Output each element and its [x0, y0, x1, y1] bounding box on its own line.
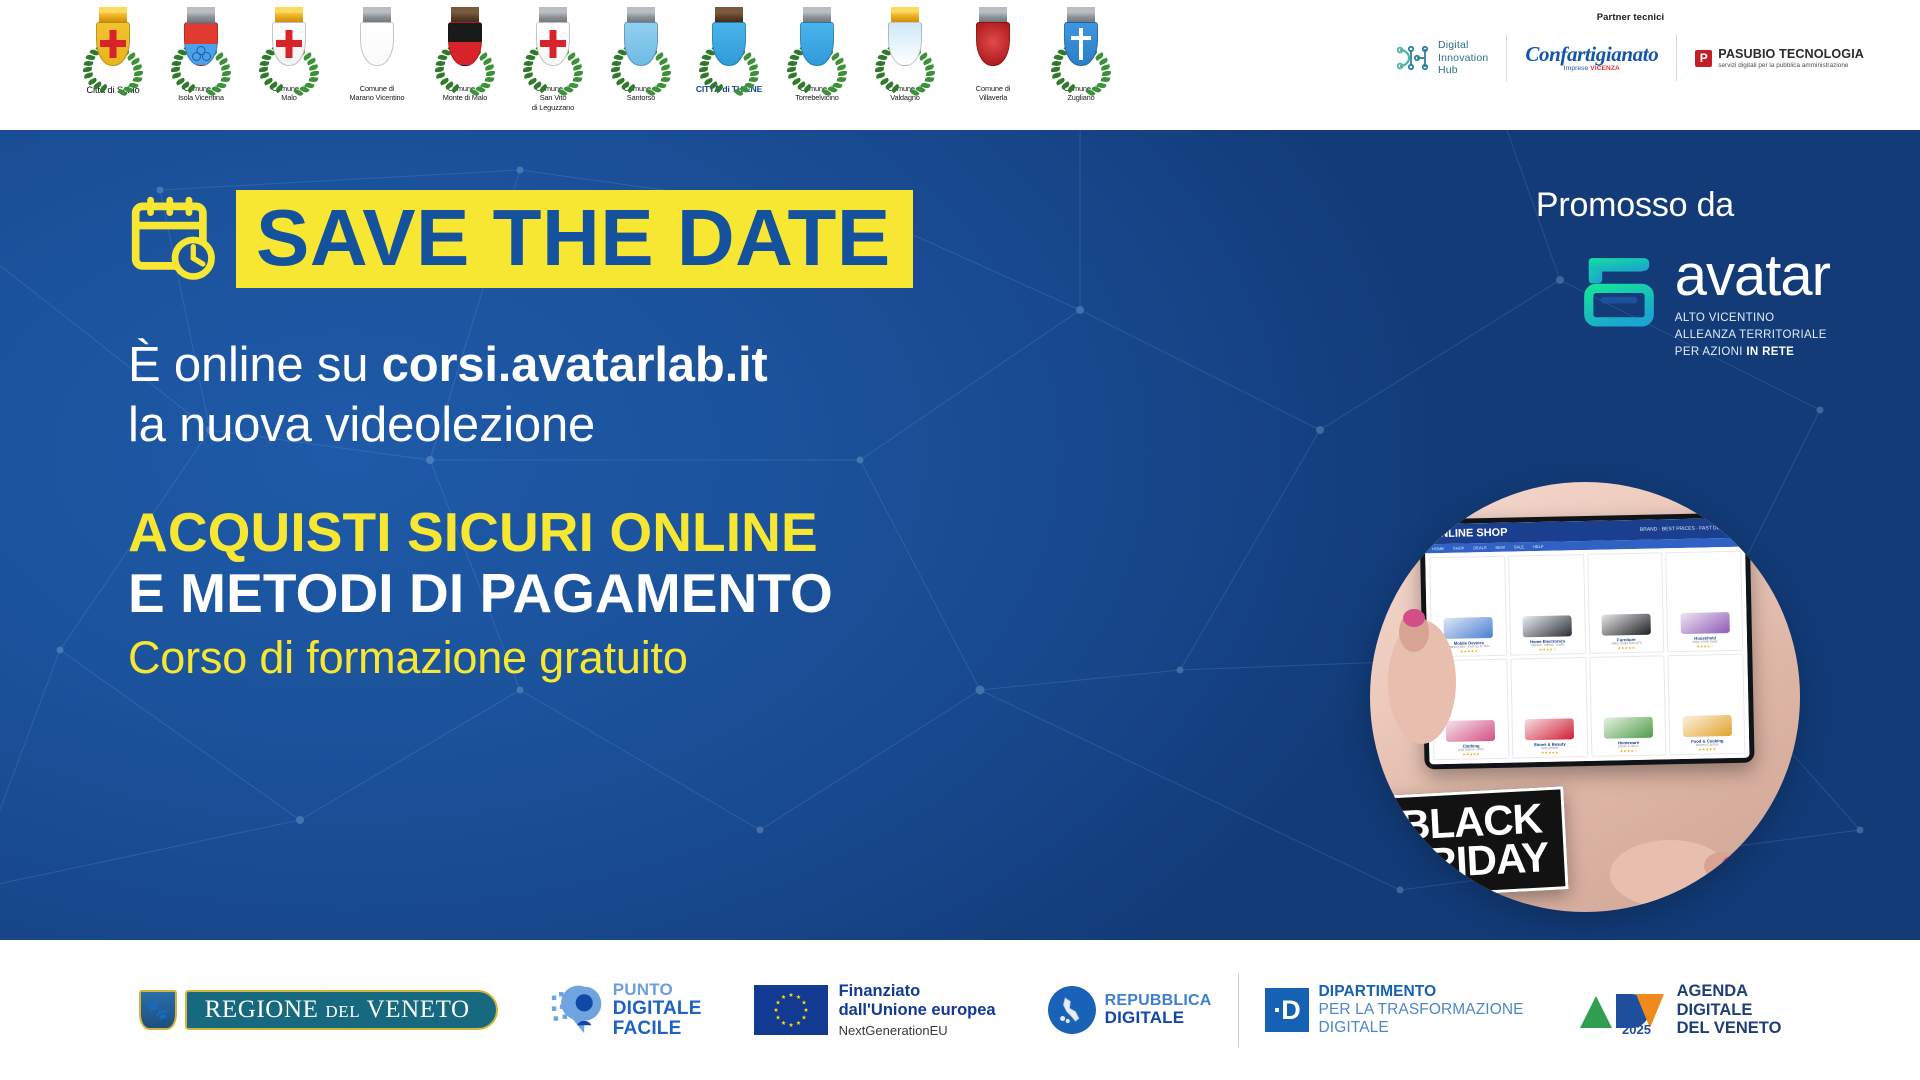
crest-artwork-marano — [346, 8, 408, 82]
agenda-line-2: DIGITALE — [1677, 1001, 1782, 1019]
repubblica-line-2: DIGITALE — [1105, 1009, 1212, 1027]
partner-tecnici-section: Partner tecnici — [1379, 4, 1910, 81]
logo-finanziato-unione-europea: Finanziato dall'Unione europea NextGener… — [728, 973, 1022, 1047]
dipartimento-badge-icon: ·D — [1265, 988, 1309, 1032]
dih-line-2: Innovation — [1438, 52, 1488, 65]
avatar-tagline-1: ALTO VICENTINO — [1675, 310, 1830, 327]
eu-line-1: Finanziato — [839, 982, 996, 1001]
shield-icon — [360, 22, 394, 66]
avatar-wordmark: avatar — [1675, 250, 1830, 302]
crest-label: Comune di Santorso — [624, 84, 658, 103]
crest-artwork-villaverla — [962, 8, 1024, 82]
repubblica-line-1: REPUBBLICA — [1105, 992, 1212, 1009]
save-the-date-band: SAVE THE DATE — [236, 190, 913, 288]
save-the-date-text: SAVE THE DATE — [256, 200, 891, 276]
svg-text:2025: 2025 — [1622, 1022, 1651, 1036]
dipartimento-line-1: DIPARTIMENTO — [1319, 983, 1524, 1001]
dipartimento-line-2: PER LA TRASFORMAZIONE — [1319, 1001, 1524, 1019]
crest-artwork-sanvito — [522, 8, 584, 82]
main-right-column: Promosso da — [1150, 130, 1920, 940]
main-left-column: SAVE THE DATE È online su corsi.avatarla… — [0, 130, 1150, 940]
crest-label: Comune di Torrebelvicino — [795, 84, 839, 103]
save-the-date-row: SAVE THE DATE — [128, 190, 1150, 288]
avatar-logo-mark-icon — [1577, 248, 1661, 332]
logo-punto-digitale-facile: PUNTO DIGITALE FACILE — [524, 973, 728, 1047]
dih-line-1: Digital — [1438, 39, 1488, 52]
shield-icon — [184, 22, 218, 66]
logo-regione-del-veneto: 🐾 REGIONE DEL VENETO — [113, 973, 524, 1047]
location-pin-icon — [550, 983, 604, 1037]
pasubio-tagline: servizi digitali per la pubblica amminis… — [1718, 62, 1864, 69]
course-subtitle: Corso di formazione gratuito — [128, 631, 1150, 685]
crest-artwork-santorso — [610, 8, 672, 82]
crest-label: Comune di Zugliano — [1064, 84, 1098, 103]
partner-tecnici-title: Partner tecnici — [1597, 12, 1665, 23]
promoted-by-label: Promosso da — [1536, 186, 1734, 225]
regione-name-small: DEL — [325, 1002, 360, 1021]
footer-institutional-logos: 🐾 REGIONE DEL VENETO — [0, 940, 1920, 1080]
punto-digitale-line-3: FACILE — [613, 1019, 702, 1039]
partner-logos-row: Digital Innovation Hub Confartigianato I… — [1379, 35, 1882, 81]
italy-map-icon — [1048, 986, 1096, 1034]
shield-icon — [888, 22, 922, 66]
logo-confartigianato: Confartigianato Imprese VICENZA — [1506, 35, 1676, 81]
municipal-crest-isola: Comune di Isola Vicentina — [158, 4, 244, 103]
shield-icon — [800, 22, 834, 66]
crest-artwork-thiene — [698, 8, 760, 82]
crest-artwork-montedimalo — [434, 8, 496, 82]
logo-repubblica-digitale: REPUBBLICA DIGITALE — [1022, 973, 1238, 1047]
main-banner: SAVE THE DATE È online su corsi.avatarla… — [0, 130, 1920, 940]
municipal-crest-schio: Città di Schio — [70, 4, 156, 96]
confartigianato-sub-prefix: Imprese — [1564, 65, 1590, 72]
hero-photo: ONLINE SHOP BRAND · BEST PRICES · FAST D… — [1370, 482, 1800, 912]
black-friday-line-2: FRIDAY — [1401, 838, 1549, 885]
municipal-crest-montedimalo: Comune di Monte di Malo — [422, 4, 508, 103]
shield-icon — [624, 22, 658, 66]
lead-line-1: È online su corsi.avatarlab.it — [128, 336, 1150, 396]
course-url[interactable]: corsi.avatarlab.it — [382, 338, 768, 392]
header-municipal-crests: Città di Schio Comune di Isola Vicentina… — [0, 0, 1920, 130]
municipal-crest-torrebelvicino: Comune di Torrebelvicino — [774, 4, 860, 103]
dih-line-3: Hub — [1438, 64, 1488, 77]
shield-icon — [712, 22, 746, 66]
crest-label: Comune di Valdagno — [888, 84, 922, 103]
course-title-line-2: E METODI DI PAGAMENTO — [128, 563, 1150, 625]
pasubio-badge-icon: P — [1695, 50, 1712, 67]
crest-label: Comune di Isola Vicentina — [178, 84, 224, 103]
lead-line-2: la nuova videolezione — [128, 396, 1150, 456]
regione-name-2: VENETO — [360, 996, 470, 1023]
dih-mark-icon — [1397, 45, 1431, 71]
course-title-line-1: ACQUISTI SICURI ONLINE — [128, 502, 1150, 564]
municipal-crest-marano: Comune di Marano Vicentino — [334, 4, 420, 103]
shield-icon — [976, 22, 1010, 66]
agenda-line-3: DEL VENETO — [1677, 1019, 1782, 1037]
course-title-block: ACQUISTI SICURI ONLINE E METODI DI PAGAM… — [128, 502, 1150, 685]
municipal-crest-villaverla: Comune di Villaverla — [950, 4, 1036, 103]
crest-label: Comune di Marano Vicentino — [350, 84, 405, 103]
veneto-lion-shield-icon: 🐾 — [139, 990, 177, 1030]
poster-root: Città di Schio Comune di Isola Vicentina… — [0, 0, 1920, 1080]
crest-row: Città di Schio Comune di Isola Vicentina… — [70, 4, 1124, 112]
eu-line-2: dall'Unione europea — [839, 1001, 996, 1020]
avatar-logo-lockup: avatar ALTO VICENTINO ALLEANZA TERRITORI… — [1577, 248, 1830, 360]
shield-icon — [448, 22, 482, 66]
crest-artwork-zugliano — [1050, 8, 1112, 82]
municipal-crest-zugliano: Comune di Zugliano — [1038, 4, 1124, 103]
crest-artwork-torrebelvicino — [786, 8, 848, 82]
logo-agenda-digitale-del-veneto: 2025 AGENDA DIGITALE DEL VENETO — [1550, 973, 1808, 1047]
municipal-crest-santorso: Comune di Santorso — [598, 4, 684, 103]
calendar-clock-icon — [128, 191, 224, 287]
crest-label: Comune di Malo — [272, 84, 306, 103]
confartigianato-name: Confartigianato — [1525, 44, 1658, 65]
crest-artwork-valdagno — [874, 8, 936, 82]
municipal-crest-valdagno: Comune di Valdagno — [862, 4, 948, 103]
confartigianato-sub-bold: VICENZA — [1590, 65, 1620, 72]
dipartimento-line-3: DIGITALE — [1319, 1019, 1524, 1037]
crest-artwork-schio — [82, 8, 144, 82]
crest-label: Comune di San Vito di Leguzzano — [532, 84, 574, 112]
eu-flag-icon — [754, 985, 828, 1035]
municipal-crest-thiene: CITTÀ di THIENE — [686, 4, 772, 95]
crest-artwork-malo — [258, 8, 320, 82]
municipal-crest-malo: Comune di Malo — [246, 4, 332, 103]
avatar-tagline-3-normal: PER AZIONI — [1675, 346, 1747, 358]
punto-digitale-line-1: PUNTO — [613, 981, 702, 999]
avatar-tagline-2: ALLEANZA TERRITORIALE — [1675, 327, 1830, 344]
crest-label: Città di Schio — [86, 84, 139, 96]
regione-name-1: REGIONE — [205, 996, 326, 1023]
crest-artwork-isola — [170, 8, 232, 82]
lead-prefix: È online su — [128, 338, 382, 392]
agenda-mark-icon: 2025 — [1576, 984, 1668, 1036]
municipal-crest-sanvito: Comune di San Vito di Leguzzano — [510, 4, 596, 112]
logo-dipartimento-trasformazione-digitale: ·D DIPARTIMENTO PER LA TRASFORMAZIONE DI… — [1238, 973, 1550, 1047]
pasubio-name: PASUBIO TECNOLOGIA — [1718, 47, 1864, 62]
eu-line-3: NextGenerationEU — [839, 1023, 996, 1038]
black-friday-badge: BLACK FRIDAY — [1379, 786, 1569, 898]
agenda-line-1: AGENDA — [1677, 982, 1782, 1000]
hero-photo-circle: ONLINE SHOP BRAND · BEST PRICES · FAST D… — [1370, 482, 1800, 912]
crest-label: CITTÀ di THIENE — [696, 84, 762, 95]
avatar-tagline-3-bold: IN RETE — [1746, 346, 1794, 358]
lead-paragraph: È online su corsi.avatarlab.it la nuova … — [128, 336, 1150, 456]
logo-digital-innovation-hub: Digital Innovation Hub — [1379, 35, 1506, 81]
logo-pasubio-tecnologia: P PASUBIO TECNOLOGIA servizi digitali pe… — [1676, 35, 1882, 81]
punto-digitale-line-2: DIGITALE — [613, 999, 702, 1019]
crest-label: Comune di Monte di Malo — [443, 84, 487, 103]
crest-label: Comune di Villaverla — [976, 84, 1010, 103]
avatar-tagline-3: PER AZIONI IN RETE — [1675, 344, 1830, 361]
